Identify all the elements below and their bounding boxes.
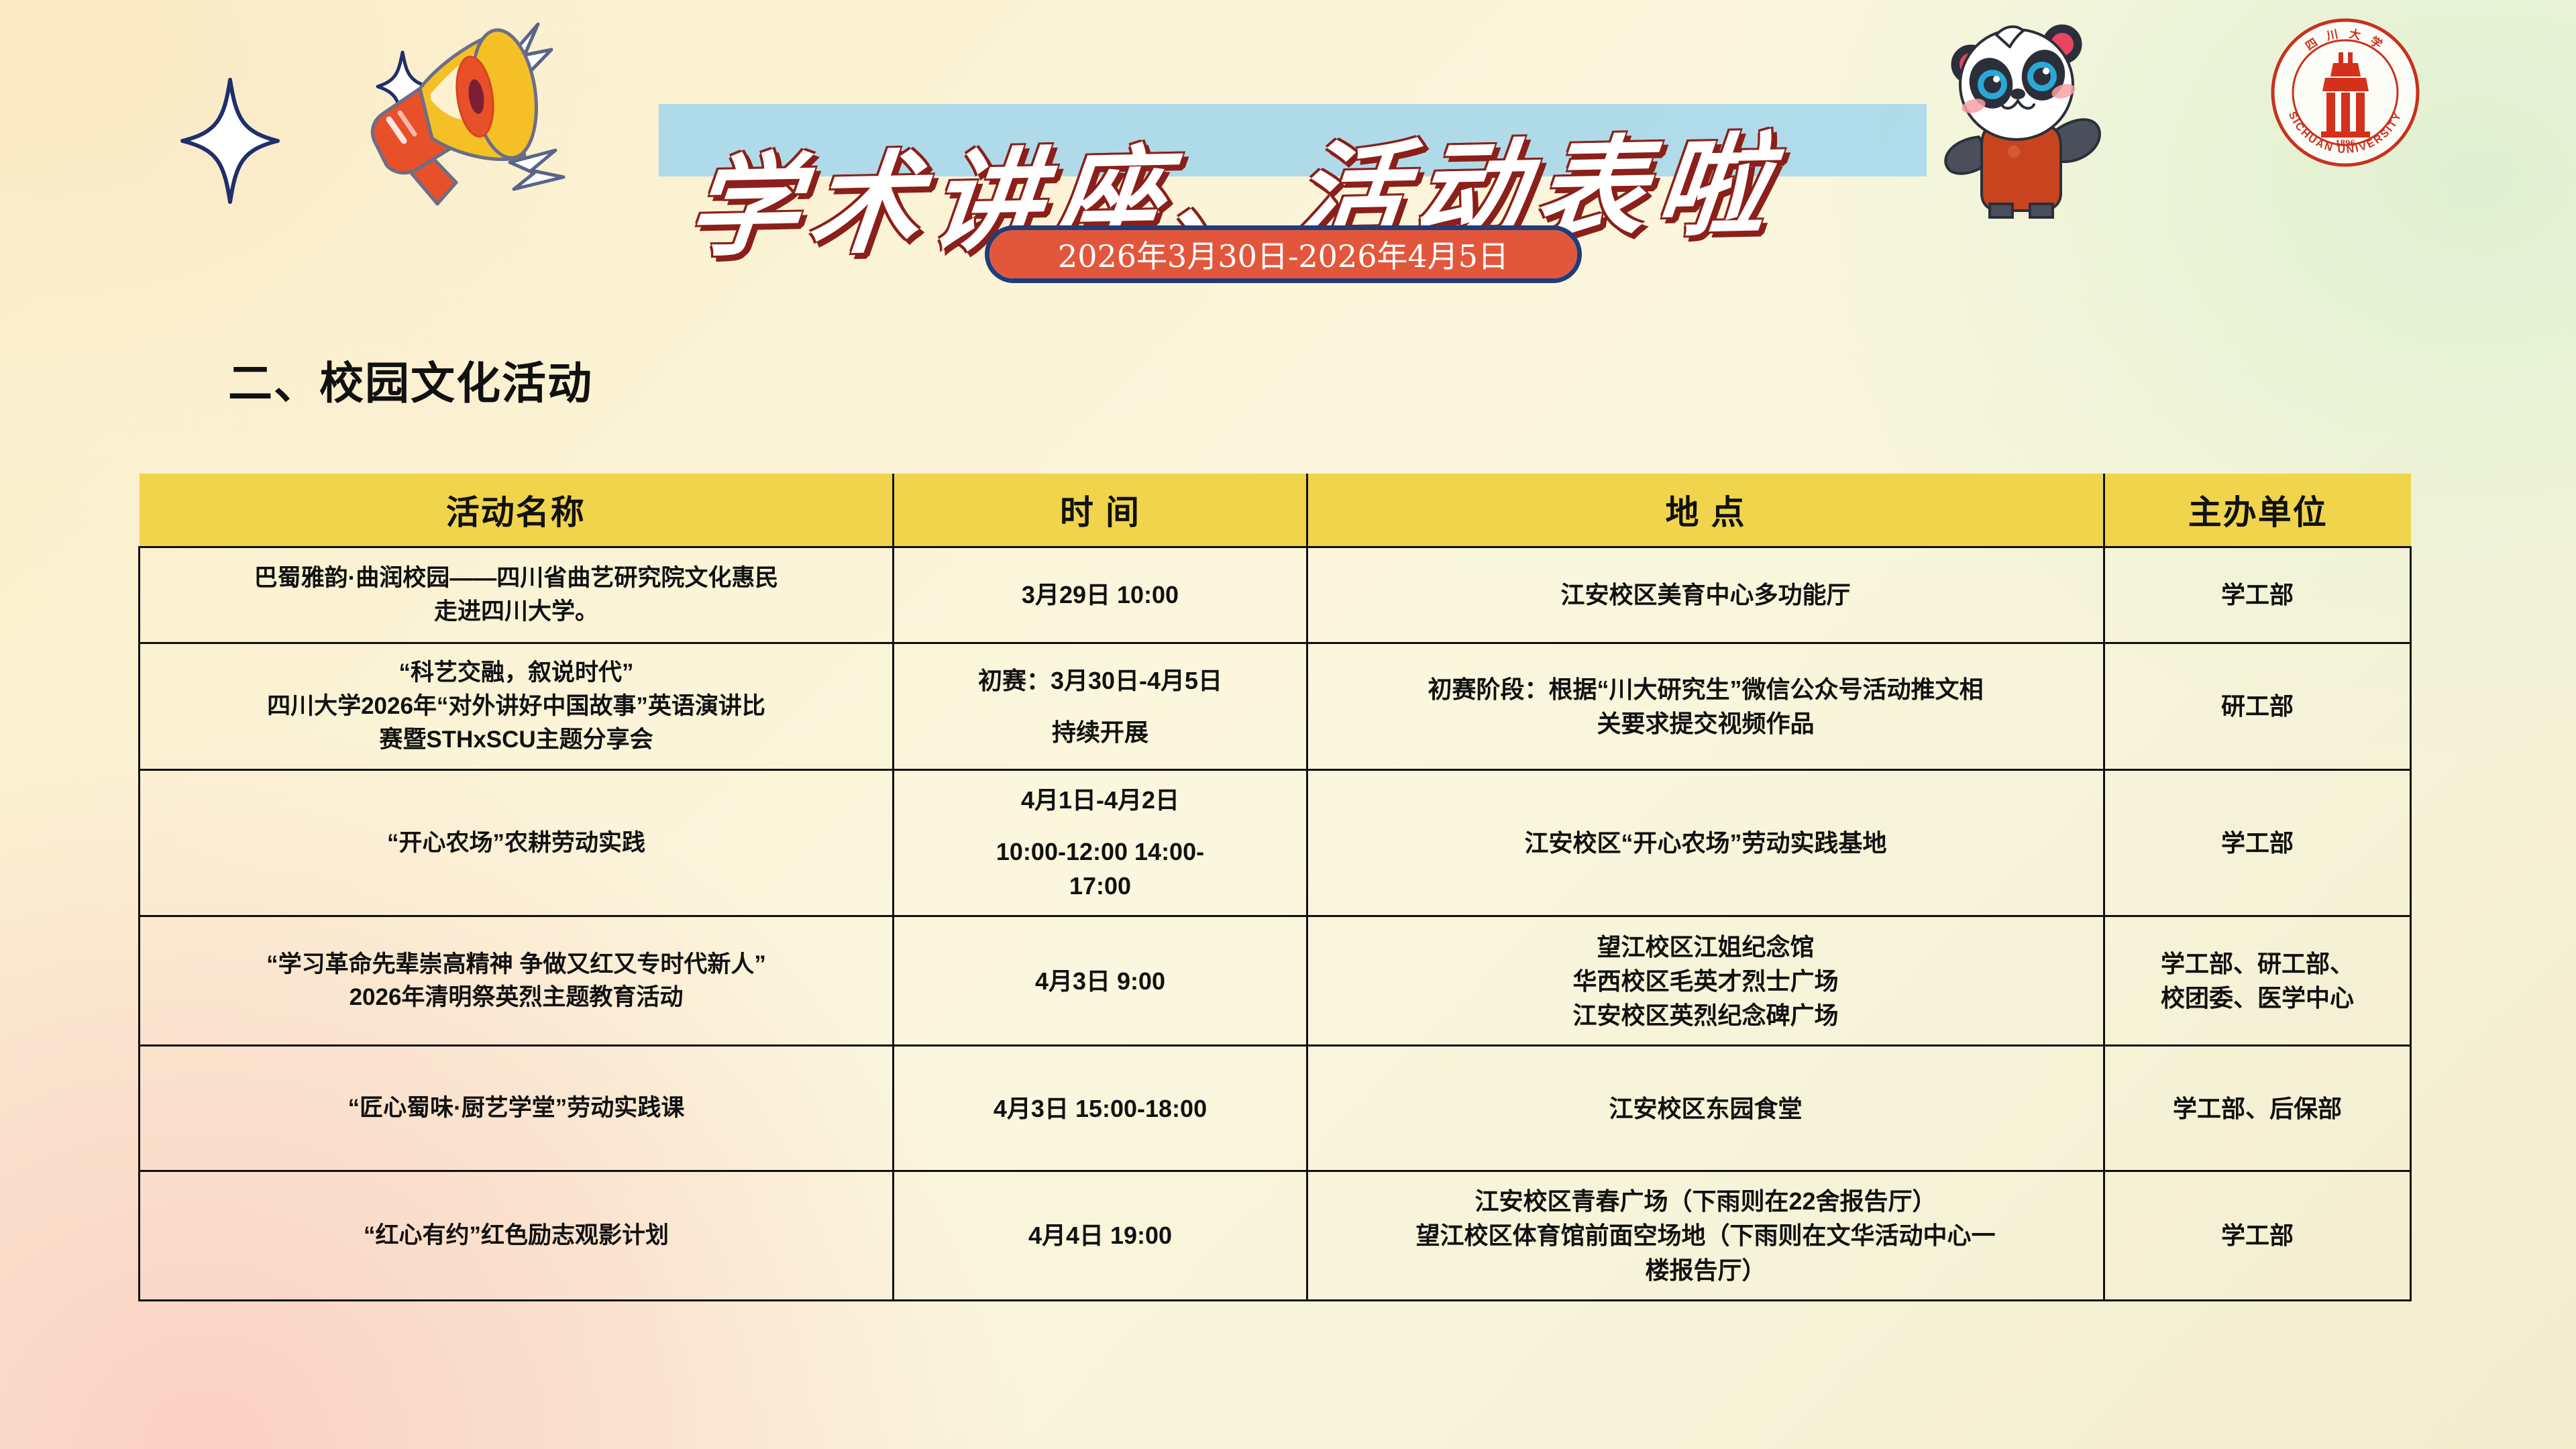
- sparkle-icon: [180, 77, 280, 208]
- cell-activity-name: “学习革命先辈崇高精神 争做又红又专时代新人”2026年清明祭英烈主题教育活动: [140, 916, 894, 1046]
- cell-time: 4月1日-4月2日10:00-12:00 14:00-17:00: [894, 770, 1307, 916]
- cell-organizer: 学工部: [2104, 770, 2411, 916]
- cell-organizer: 学工部、研工部、校团委、医学中心: [2104, 916, 2411, 1046]
- cell-place: 望江校区江姐纪念馆华西校区毛英才烈士广场江安校区英烈纪念碑广场: [1307, 916, 2104, 1046]
- cell-organizer: 研工部: [2104, 643, 2411, 770]
- table-row: “开心农场”农耕劳动实践4月1日-4月2日10:00-12:00 14:00-1…: [140, 770, 2411, 916]
- cell-place: 江安校区美育中心多功能厅: [1307, 547, 2104, 643]
- sichuan-university-logo-icon: 1896 四 川 大 学 SICHUAN UNIVERSITY: [2266, 13, 2424, 175]
- megaphone-icon: [288, 13, 584, 218]
- cell-organizer: 学工部、后保部: [2104, 1046, 2411, 1171]
- date-range-text: 2026年3月30日-2026年4月5日: [989, 230, 1577, 278]
- section-heading: 二、校园文化活动: [228, 347, 593, 412]
- table-header-row: 活动名称 时 间 地 点 主办单位: [140, 474, 2411, 547]
- table-row: “科艺交融，叙说时代”四川大学2026年“对外讲好中国故事”英语演讲比赛暨STH…: [140, 643, 2411, 770]
- table-row: “学习革命先辈崇高精神 争做又红又专时代新人”2026年清明祭英烈主题教育活动4…: [140, 916, 2411, 1046]
- cell-activity-name: “红心有约”红色励志观影计划: [140, 1171, 894, 1300]
- cell-place: 江安校区“开心农场”劳动实践基地: [1307, 770, 2104, 916]
- cell-place: 江安校区青春广场（下雨则在22舍报告厅）望江校区体育馆前面空场地（下雨则在文华活…: [1307, 1171, 2104, 1300]
- activity-schedule-table: 活动名称 时 间 地 点 主办单位 巴蜀雅韵·曲润校园——四川省曲艺研究院文化惠…: [138, 474, 2412, 1301]
- cell-activity-name: 巴蜀雅韵·曲润校园——四川省曲艺研究院文化惠民走进四川大学。: [140, 547, 894, 643]
- panda-mascot-icon: [1904, 5, 2132, 223]
- cell-time: 4月3日 9:00: [894, 916, 1307, 1046]
- cell-place: 江安校区东园食堂: [1307, 1046, 2104, 1171]
- cell-activity-name: “匠心蜀味·厨艺学堂”劳动实践课: [140, 1046, 894, 1171]
- date-range-badge: 2026年3月30日-2026年4月5日: [985, 225, 1582, 283]
- cell-time: 4月4日 19:00: [894, 1171, 1307, 1300]
- cell-place: 初赛阶段：根据“川大研究生”微信公众号活动推文相关要求提交视频作品: [1307, 643, 2104, 770]
- column-header-place: 地 点: [1307, 474, 2104, 547]
- cell-organizer: 学工部: [2104, 547, 2411, 643]
- table-row: “匠心蜀味·厨艺学堂”劳动实践课4月3日 15:00-18:00江安校区东园食堂…: [140, 1046, 2411, 1171]
- table-row: “红心有约”红色励志观影计划4月4日 19:00江安校区青春广场（下雨则在22舍…: [140, 1171, 2411, 1300]
- poster-canvas: 1896 四 川 大 学 SICHUAN UNIVERSITY 学术讲座、活动表…: [0, 0, 2576, 1449]
- cell-time: 4月3日 15:00-18:00: [894, 1046, 1307, 1171]
- column-header-activity-name: 活动名称: [140, 474, 894, 547]
- table-row: 巴蜀雅韵·曲润校园——四川省曲艺研究院文化惠民走进四川大学。3月29日 10:0…: [140, 547, 2411, 643]
- column-header-organizer: 主办单位: [2104, 474, 2411, 547]
- cell-activity-name: “科艺交融，叙说时代”四川大学2026年“对外讲好中国故事”英语演讲比赛暨STH…: [140, 643, 894, 770]
- column-header-time: 时 间: [894, 474, 1307, 547]
- cell-time: 初赛：3月30日-4月5日持续开展: [894, 643, 1307, 770]
- cell-activity-name: “开心农场”农耕劳动实践: [140, 770, 894, 916]
- cell-time: 3月29日 10:00: [894, 547, 1307, 643]
- cell-organizer: 学工部: [2104, 1171, 2411, 1300]
